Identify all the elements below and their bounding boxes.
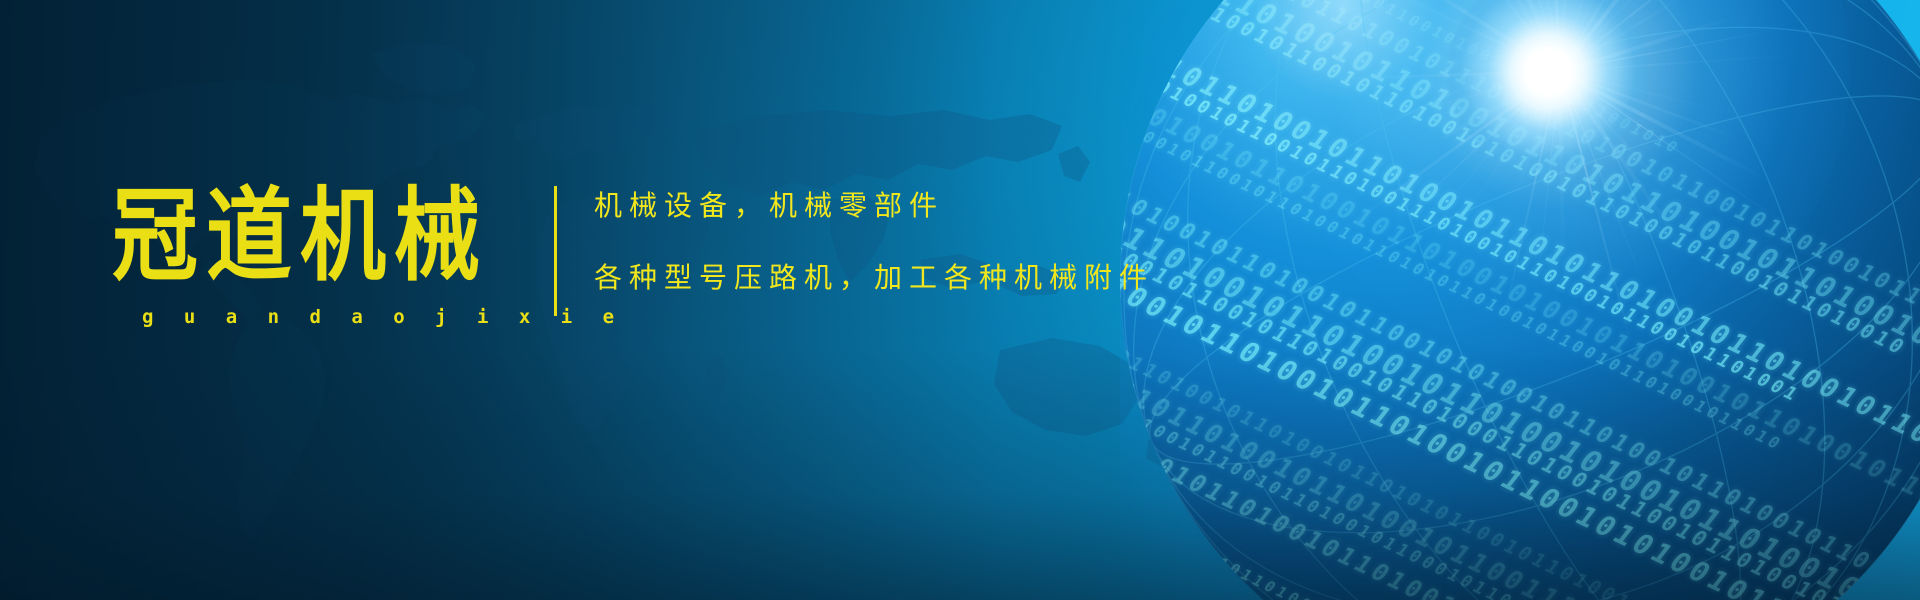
- tagline-primary: 机械设备，机械零部件: [594, 192, 1154, 220]
- vertical-divider: [554, 186, 557, 316]
- tagline-secondary: 各种型号压路机，加工各种机械附件: [594, 264, 1154, 292]
- tagline-group: 机械设备，机械零部件 各种型号压路机，加工各种机械附件: [594, 192, 1154, 292]
- brand-logo: 冠道机械 g u a n d a o j i x i e: [112, 186, 532, 328]
- brand-name-chinese: 冠道机械: [112, 186, 532, 287]
- promo-banner: 0100110010100101101001100101001001100101…: [0, 0, 1920, 600]
- brand-name-pinyin: g u a n d a o j i x i e: [112, 306, 532, 328]
- banner-content: 冠道机械 g u a n d a o j i x i e 机械设备，机械零部件 …: [0, 0, 1920, 600]
